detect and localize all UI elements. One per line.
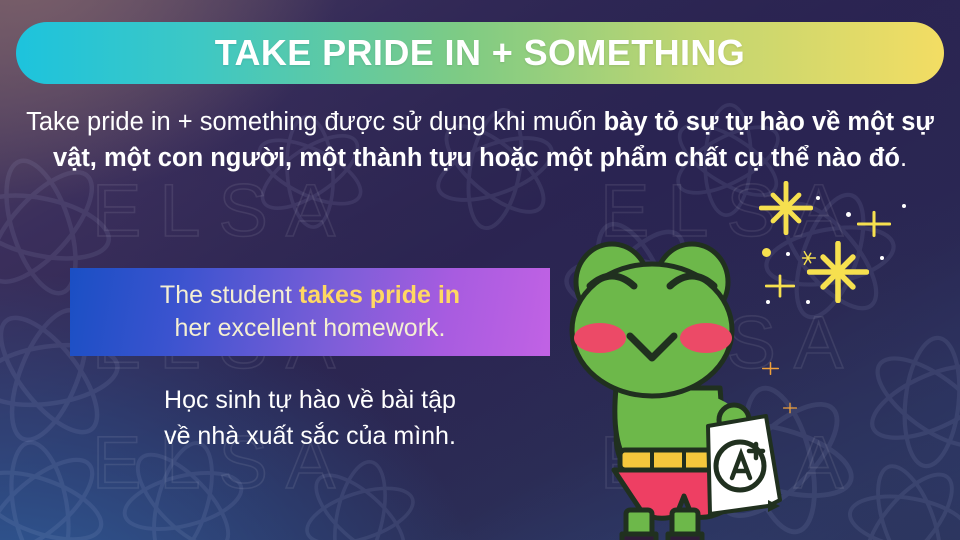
sparkle-dot-icon	[846, 212, 851, 217]
frog-blush-right	[680, 323, 732, 353]
example-sentence-box: The student takes pride in her excellent…	[70, 268, 550, 356]
intro-segment-2: .	[900, 144, 907, 172]
example-line-1: The student takes pride in	[160, 279, 460, 312]
sparkle-star-icon	[759, 181, 813, 235]
frog-mascot-illustration	[568, 238, 818, 540]
atom-decor-icon	[834, 448, 960, 540]
atom-decor-icon	[840, 310, 960, 495]
sparkle-dot-icon	[816, 196, 820, 200]
example-line-2: her excellent homework.	[175, 312, 446, 345]
slide-canvas: ELSAELSAELSAELSAELSAELSA TAKE PRIDE IN +…	[0, 0, 960, 540]
intro-paragraph: Take pride in + something được sử dụng k…	[26, 104, 934, 176]
translation-line-1: Học sinh tự hào về bài tập	[70, 382, 550, 418]
example-prefix: The student	[160, 281, 299, 309]
sparkle-dot-icon	[880, 256, 884, 260]
intro-segment-0: Take pride in + something được sử dụng k…	[26, 108, 603, 136]
sparkle-dot-icon	[902, 204, 906, 208]
example-highlight: takes pride in	[299, 281, 460, 309]
translation-text: Học sinh tự hào về bài tập về nhà xuất s…	[70, 382, 550, 454]
atom-decor-icon	[284, 440, 435, 540]
frog-mascot	[568, 238, 818, 540]
frog-blush-left	[574, 323, 626, 353]
grade-paper-icon	[708, 416, 780, 514]
translation-line-2: về nhà xuất sắc của mình.	[70, 418, 550, 454]
page-title: TAKE PRIDE IN + SOMETHING	[215, 32, 745, 74]
sparkle-star-icon	[857, 207, 891, 241]
title-banner: TAKE PRIDE IN + SOMETHING	[16, 22, 944, 84]
elsa-watermark: ELSA	[92, 168, 353, 253]
